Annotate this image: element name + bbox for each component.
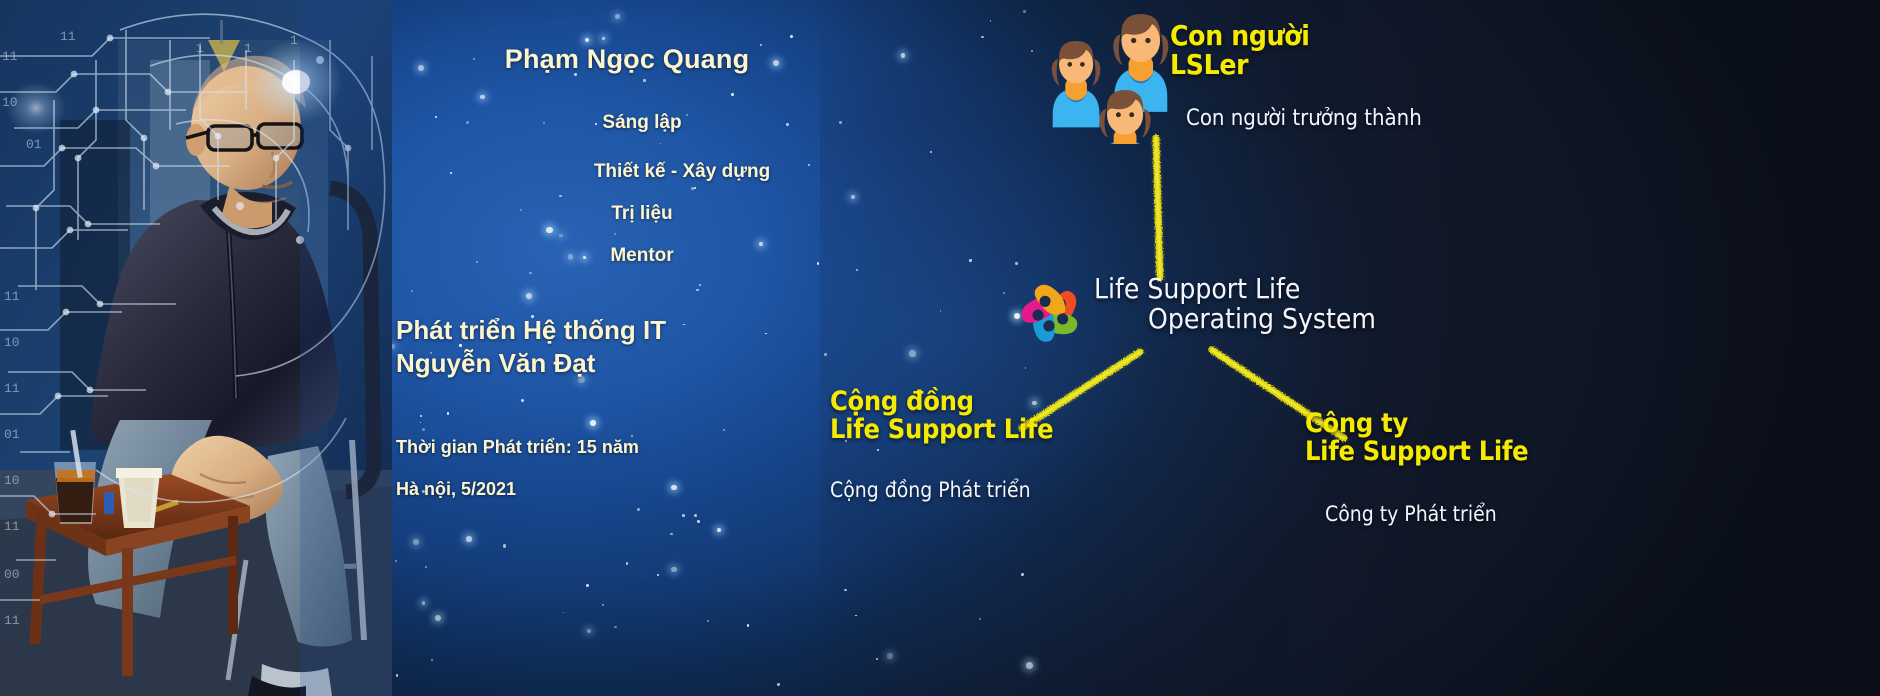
left-info-panel: Phạm Ngọc Quang Sáng lập Thiết kế - Xây … xyxy=(392,0,912,696)
three-people-avatars-icon xyxy=(1050,14,1190,144)
svg-text:11: 11 xyxy=(60,29,76,44)
svg-text:11: 11 xyxy=(4,613,20,628)
diagram-node-con-nguoi-lsler[interactable]: Con người LSLer Con người trưởng thành xyxy=(1170,22,1310,79)
node-subtitle-con-nguoi-lsler: Con người trưởng thành xyxy=(1186,106,1606,131)
role-tri-lieu: Trị liệu xyxy=(432,203,852,225)
diagram-node-cong-ty[interactable]: Công ty Life Support Life Công ty Phát t… xyxy=(1305,410,1665,465)
svg-text:11: 11 xyxy=(4,519,20,534)
svg-text:00: 00 xyxy=(4,567,20,582)
svg-text:10: 10 xyxy=(4,473,20,488)
center-title-line-2: Operating System xyxy=(1148,302,1376,335)
slide-canvas: 1110 1110 1101 1011 0011 0111 11 1 Phạm … xyxy=(0,0,1880,696)
svg-text:11: 11 xyxy=(4,381,20,396)
svg-text:11: 11 xyxy=(2,49,18,64)
people-avatars-svg xyxy=(1050,14,1190,144)
diagram-node-cong-dong[interactable]: Cộng đồng Life Support Life Cộng đồng Ph… xyxy=(830,388,1190,443)
node-subtitle-cong-ty: Công ty Phát triển xyxy=(1325,502,1685,526)
portrait-photo: 1110 1110 1101 1011 0011 0111 11 1 xyxy=(0,0,392,696)
role-mentor: Mentor xyxy=(432,245,852,267)
node-title-cong-ty: Công ty Life Support Life xyxy=(1305,410,1665,465)
development-block: Phát triển Hệ thống IT Nguyễn Văn Đạt xyxy=(396,314,876,379)
page-title: Phạm Ngọc Quang xyxy=(392,44,862,75)
svg-text:11: 11 xyxy=(4,289,20,304)
portrait-photo-image: 1110 1110 1101 1011 0011 0111 11 1 xyxy=(0,0,392,696)
svg-text:1: 1 xyxy=(196,41,204,56)
node-title-cong-dong: Cộng đồng Life Support Life xyxy=(830,388,1190,443)
node-subtitle-cong-dong: Cộng đồng Phát triển xyxy=(830,478,1190,502)
lsl-os-diagram: Con người LSLer Con người trưởng thành xyxy=(960,0,1880,696)
role-thiet-ke-xay-dung: Thiết kế - Xây dựng xyxy=(472,161,892,183)
meta-location-date: Hà nội, 5/2021 xyxy=(396,479,876,500)
svg-text:01: 01 xyxy=(26,137,42,152)
node-title-con-nguoi-lsler: Con người LSLer xyxy=(1170,22,1310,79)
development-line-2: Nguyễn Văn Đạt xyxy=(396,347,876,380)
development-line-1: Phát triển Hệ thống IT xyxy=(396,314,876,347)
life-support-life-flower-logo xyxy=(1018,280,1084,346)
center-title-line-1: Life Support Life xyxy=(1094,272,1300,305)
meta-duration: Thời gian Phát triển: 15 năm xyxy=(396,437,876,458)
svg-text:1: 1 xyxy=(244,41,252,56)
role-sang-lap: Sáng lập xyxy=(432,112,852,134)
svg-text:10: 10 xyxy=(4,335,20,350)
svg-text:01: 01 xyxy=(4,427,20,442)
